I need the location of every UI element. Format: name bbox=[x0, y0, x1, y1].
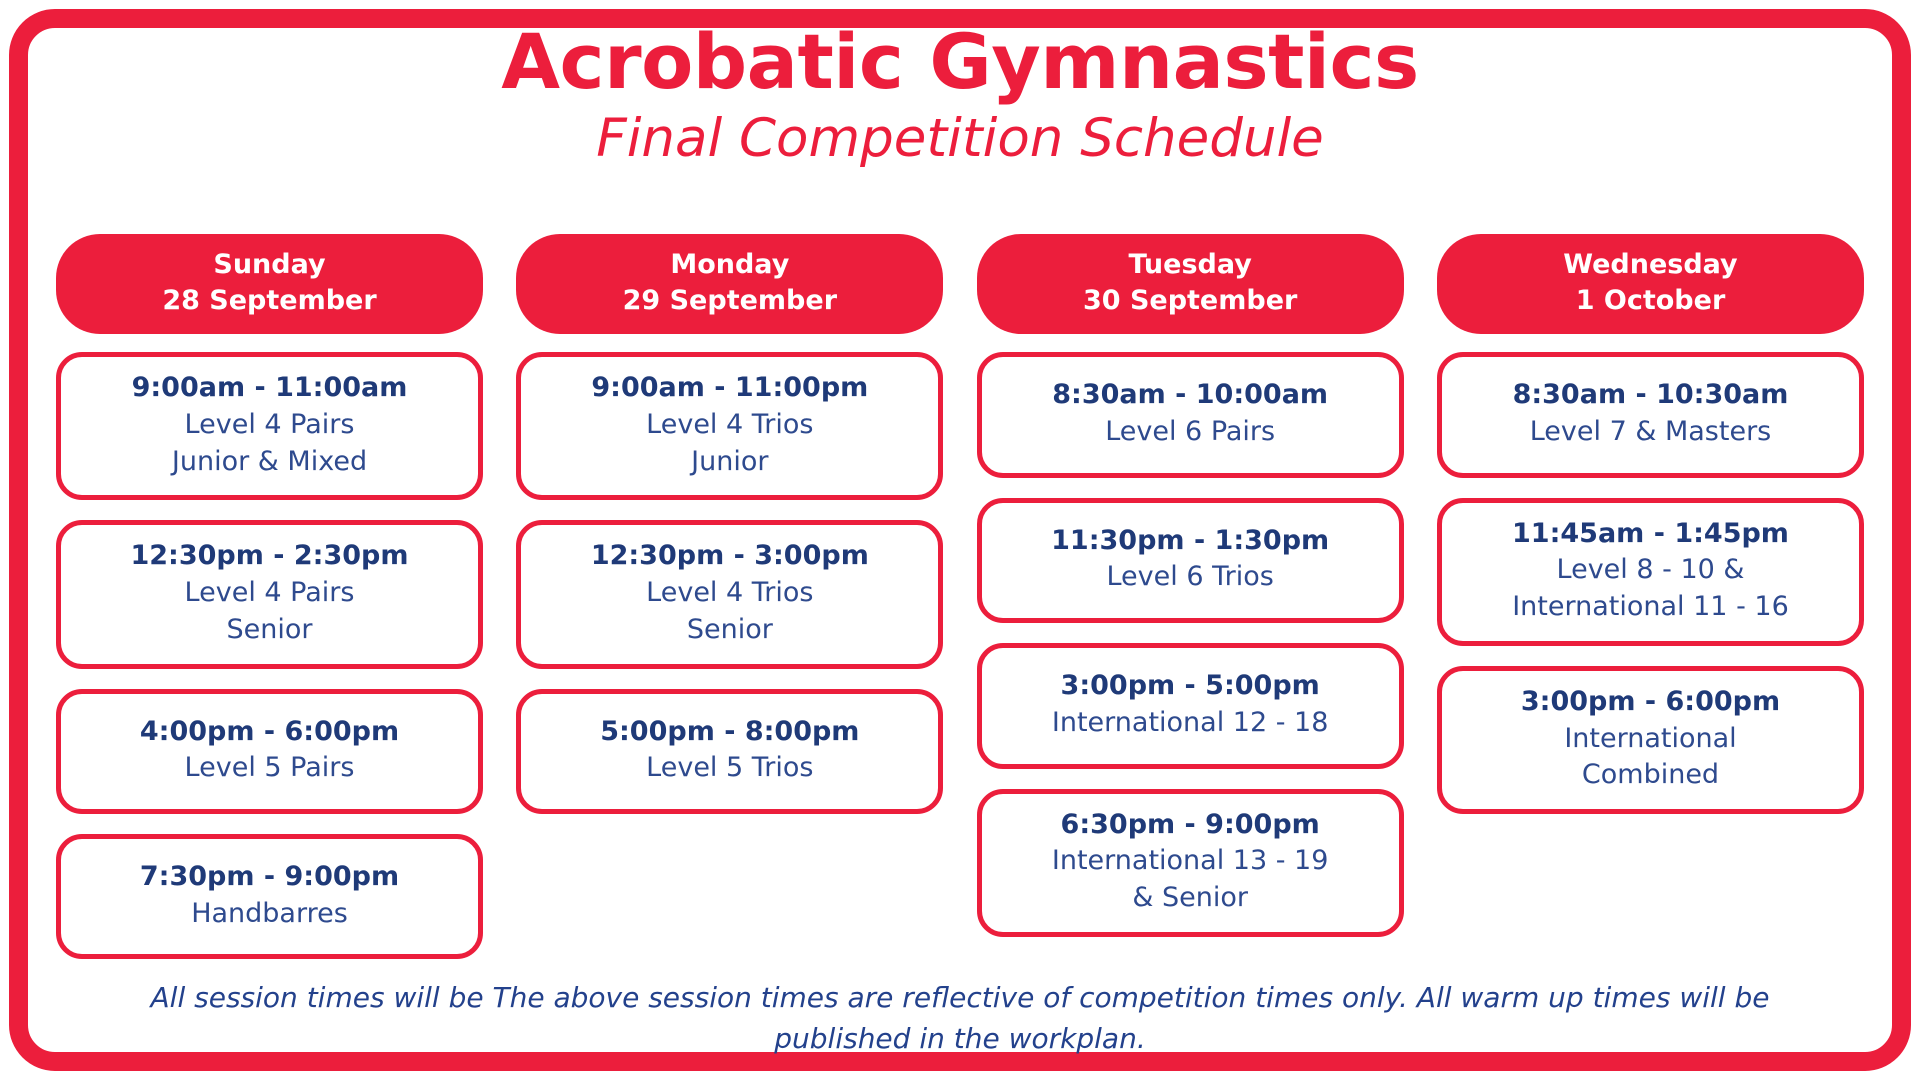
day-header-wednesday: Wednesday1 October bbox=[1437, 234, 1864, 334]
day-name: Sunday bbox=[66, 247, 473, 283]
session-card[interactable]: 6:30pm - 9:00pmInternational 13 - 19& Se… bbox=[977, 789, 1404, 937]
session-card[interactable]: 12:30pm - 2:30pmLevel 4 PairsSenior bbox=[56, 520, 483, 668]
session-description-line: Level 6 Pairs bbox=[994, 414, 1387, 451]
schedule-poster: Acrobatic Gymnastics Final Competition S… bbox=[0, 0, 1920, 1080]
session-card[interactable]: 11:30pm - 1:30pmLevel 6 Trios bbox=[977, 498, 1404, 623]
session-card[interactable]: 4:00pm - 6:00pmLevel 5 Pairs bbox=[56, 689, 483, 814]
session-card[interactable]: 12:30pm - 3:00pmLevel 4 TriosSenior bbox=[516, 520, 943, 668]
session-time: 11:30pm - 1:30pm bbox=[994, 523, 1387, 560]
day-header-monday: Monday29 September bbox=[516, 234, 943, 334]
session-description-line: Level 7 & Masters bbox=[1454, 414, 1847, 451]
page-subtitle: Final Competition Schedule bbox=[0, 109, 1920, 169]
day-header-sunday: Sunday28 September bbox=[56, 234, 483, 334]
session-description-line: International 11 - 16 bbox=[1454, 589, 1847, 626]
session-description-line: Level 4 Trios bbox=[533, 575, 926, 612]
session-time: 8:30am - 10:30am bbox=[1454, 377, 1847, 414]
session-time: 8:30am - 10:00am bbox=[994, 377, 1387, 414]
title-block: Acrobatic Gymnastics Final Competition S… bbox=[0, 22, 1920, 169]
session-card[interactable]: 8:30am - 10:00amLevel 6 Pairs bbox=[977, 352, 1404, 477]
session-description-line: Senior bbox=[73, 612, 466, 649]
session-description-line: & Senior bbox=[994, 880, 1387, 917]
day-name: Wednesday bbox=[1447, 247, 1854, 283]
session-description-line: International 12 - 18 bbox=[994, 705, 1387, 742]
session-time: 4:00pm - 6:00pm bbox=[73, 714, 466, 751]
session-card[interactable]: 9:00am - 11:00amLevel 4 PairsJunior & Mi… bbox=[56, 352, 483, 500]
session-description-line: Junior bbox=[533, 444, 926, 481]
session-card[interactable]: 3:00pm - 6:00pmInternationalCombined bbox=[1437, 666, 1864, 814]
session-description-line: Level 6 Trios bbox=[994, 559, 1387, 596]
day-column-sunday: Sunday28 September9:00am - 11:00amLevel … bbox=[56, 234, 483, 979]
day-column-monday: Monday29 September9:00am - 11:00pmLevel … bbox=[516, 234, 943, 834]
day-name: Tuesday bbox=[987, 247, 1394, 283]
session-description-line: International bbox=[1454, 721, 1847, 758]
session-time: 11:45am - 1:45pm bbox=[1454, 516, 1847, 553]
session-card[interactable]: 8:30am - 10:30amLevel 7 & Masters bbox=[1437, 352, 1864, 477]
session-description-line: Level 5 Pairs bbox=[73, 750, 466, 787]
session-card[interactable]: 11:45am - 1:45pmLevel 8 - 10 &Internatio… bbox=[1437, 498, 1864, 646]
session-description-line: Level 4 Trios bbox=[533, 407, 926, 444]
session-card[interactable]: 9:00am - 11:00pmLevel 4 TriosJunior bbox=[516, 352, 943, 500]
footer-note: All session times will be The above sess… bbox=[110, 978, 1810, 1059]
session-description-line: Handbarres bbox=[73, 896, 466, 933]
session-description-line: International 13 - 19 bbox=[994, 843, 1387, 880]
day-date: 1 October bbox=[1447, 283, 1854, 319]
day-column-tuesday: Tuesday30 September8:30am - 10:00amLevel… bbox=[977, 234, 1404, 957]
session-time: 9:00am - 11:00am bbox=[73, 370, 466, 407]
session-time: 12:30pm - 2:30pm bbox=[73, 538, 466, 575]
day-date: 29 September bbox=[526, 283, 933, 319]
day-name: Monday bbox=[526, 247, 933, 283]
day-header-tuesday: Tuesday30 September bbox=[977, 234, 1404, 334]
day-date: 28 September bbox=[66, 283, 473, 319]
session-card[interactable]: 5:00pm - 8:00pmLevel 5 Trios bbox=[516, 689, 943, 814]
session-time: 3:00pm - 5:00pm bbox=[994, 668, 1387, 705]
session-description-line: Junior & Mixed bbox=[73, 444, 466, 481]
session-time: 5:00pm - 8:00pm bbox=[533, 714, 926, 751]
session-card[interactable]: 7:30pm - 9:00pmHandbarres bbox=[56, 834, 483, 959]
session-time: 12:30pm - 3:00pm bbox=[533, 538, 926, 575]
session-description-line: Level 4 Pairs bbox=[73, 575, 466, 612]
session-time: 9:00am - 11:00pm bbox=[533, 370, 926, 407]
session-description-line: Combined bbox=[1454, 757, 1847, 794]
page-title: Acrobatic Gymnastics bbox=[0, 22, 1920, 103]
session-time: 6:30pm - 9:00pm bbox=[994, 807, 1387, 844]
session-description-line: Senior bbox=[533, 612, 926, 649]
session-time: 3:00pm - 6:00pm bbox=[1454, 684, 1847, 721]
day-column-wednesday: Wednesday1 October8:30am - 10:30amLevel … bbox=[1437, 234, 1864, 834]
day-date: 30 September bbox=[987, 283, 1394, 319]
session-description-line: Level 4 Pairs bbox=[73, 407, 466, 444]
session-description-line: Level 8 - 10 & bbox=[1454, 552, 1847, 589]
schedule-columns: Sunday28 September9:00am - 11:00amLevel … bbox=[56, 234, 1864, 979]
session-time: 7:30pm - 9:00pm bbox=[73, 859, 466, 896]
session-description-line: Level 5 Trios bbox=[533, 750, 926, 787]
session-card[interactable]: 3:00pm - 5:00pmInternational 12 - 18 bbox=[977, 643, 1404, 768]
